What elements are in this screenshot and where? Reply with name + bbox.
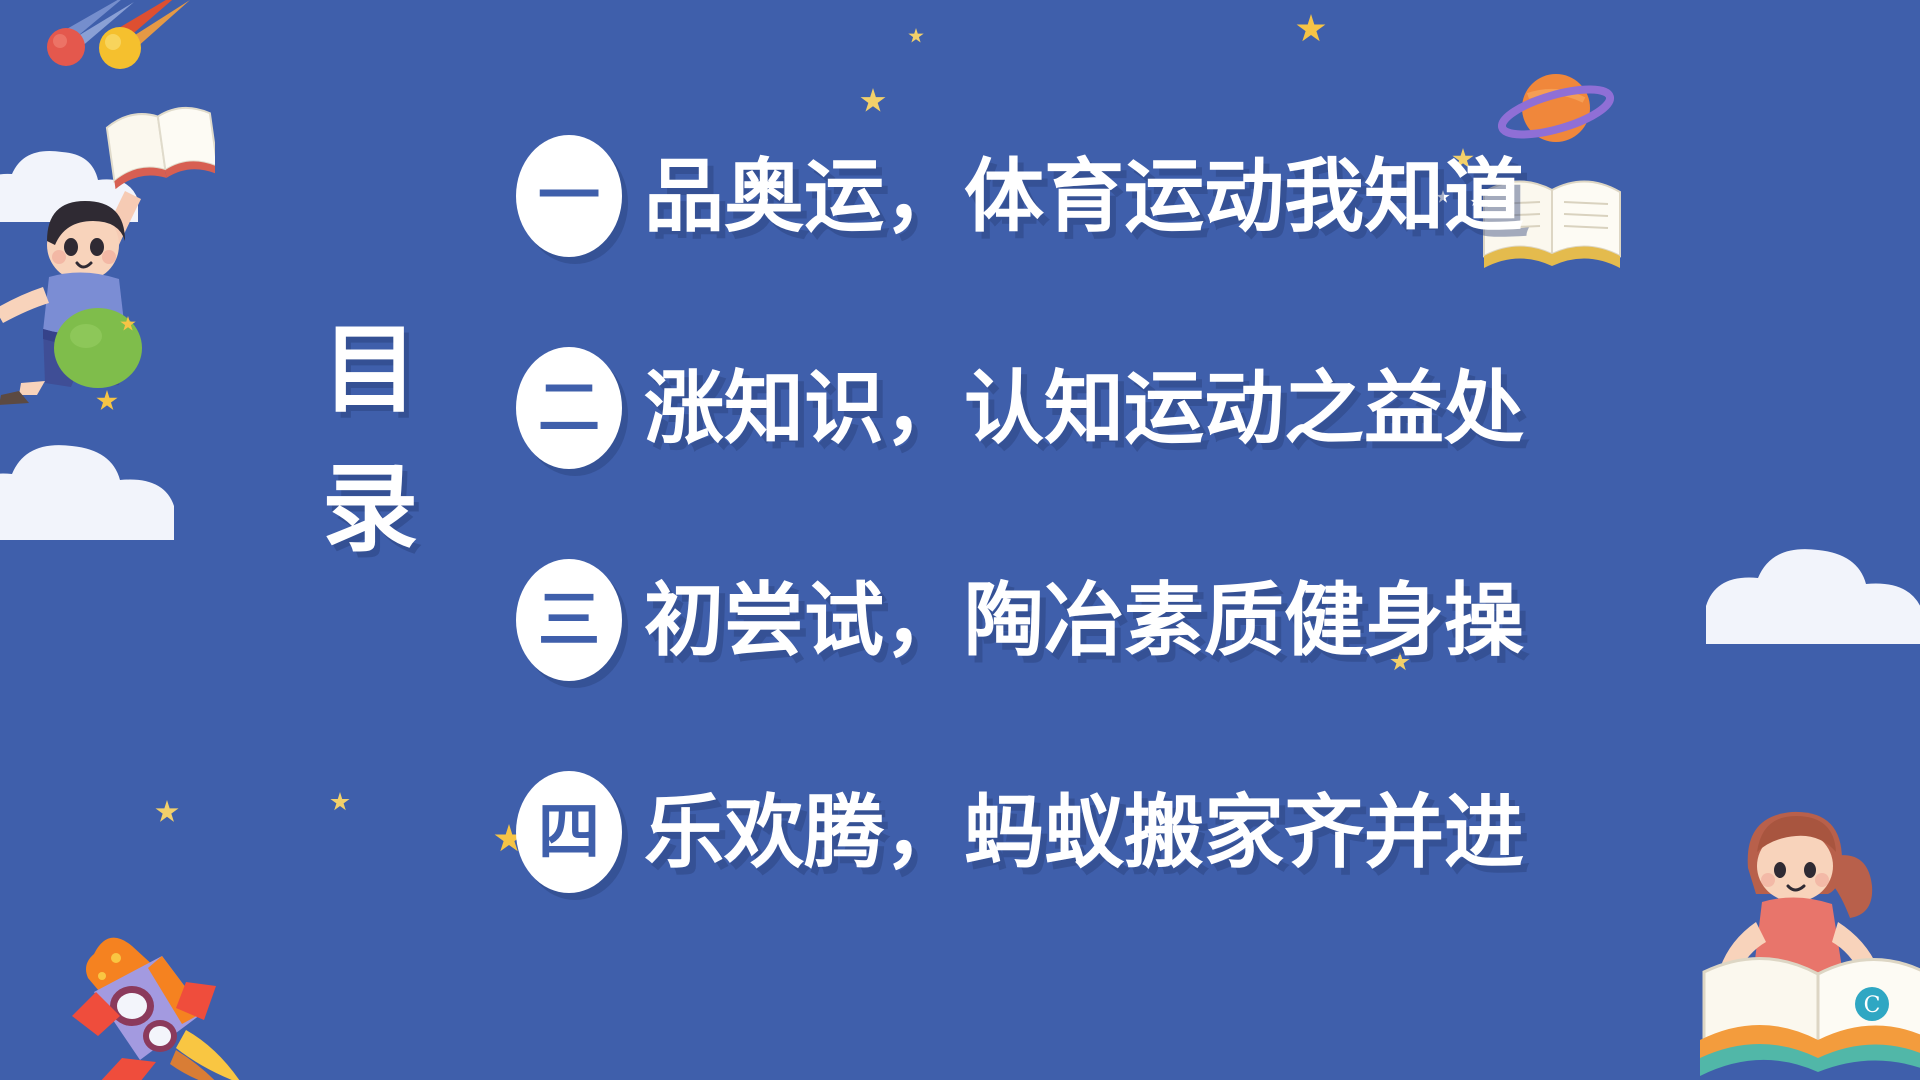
item-title-2: 涨知识，认知运动之益处 (644, 368, 1524, 448)
item-number-badge-3: 三 (516, 559, 622, 681)
item-number-badge-1: 一 (516, 135, 622, 257)
section-label-char-1: 目 (300, 300, 440, 439)
section-label-char-2: 录 (300, 439, 440, 578)
slide-canvas: C 目 录 一 品奥运，体育运动我知道 二 涨知识，认知运动之益处 三 初尝试，… (0, 0, 1920, 1080)
table-of-contents: 目 录 一 品奥运，体育运动我知道 二 涨知识，认知运动之益处 三 初尝试，陶冶… (0, 0, 1920, 1080)
contents-list: 一 品奥运，体育运动我知道 二 涨知识，认知运动之益处 三 初尝试，陶冶素质健身… (516, 132, 1816, 896)
list-item[interactable]: 一 品奥运，体育运动我知道 (516, 132, 1816, 260)
item-title-1: 品奥运，体育运动我知道 (644, 156, 1524, 236)
item-number-badge-4: 四 (516, 771, 622, 893)
item-number-badge-2: 二 (516, 347, 622, 469)
list-item[interactable]: 三 初尝试，陶冶素质健身操 (516, 556, 1816, 684)
list-item[interactable]: 四 乐欢腾，蚂蚁搬家齐并进 (516, 768, 1816, 896)
item-title-4: 乐欢腾，蚂蚁搬家齐并进 (644, 792, 1524, 872)
list-item[interactable]: 二 涨知识，认知运动之益处 (516, 344, 1816, 472)
item-title-3: 初尝试，陶冶素质健身操 (644, 580, 1524, 660)
section-label-mulu: 目 录 (300, 300, 440, 578)
